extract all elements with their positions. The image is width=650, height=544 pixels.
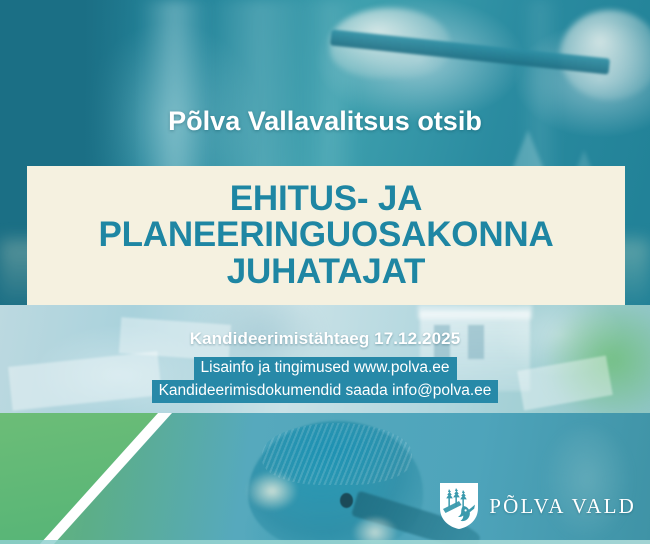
job-title-heading: EHITUS- JA PLANEERINGUOSAKONNA JUHATAJAT — [92, 181, 559, 289]
info-line-email: Kandideerimisdokumendid saada info@polva… — [152, 380, 499, 403]
contact-info-block: Lisainfo ja tingimused www.polva.ee Kand… — [0, 357, 650, 403]
job-advert-poster: Põlva Vallavalitsus otsib EHITUS- JA PLA… — [0, 0, 650, 544]
application-deadline-text: Kandideerimistähtaeg 17.12.2025 — [0, 329, 650, 349]
job-title-line-2: PLANEERINGUOSAKONNA — [98, 217, 553, 253]
pretitle-text: Põlva Vallavalitsus otsib — [0, 106, 650, 137]
info-line-website: Lisainfo ja tingimused www.polva.ee — [194, 357, 457, 380]
headline-panel: EHITUS- JA PLANEERINGUOSAKONNA JUHATAJAT — [27, 166, 625, 305]
kingfisher-cheek-patch — [246, 471, 298, 511]
kingfisher-eye — [340, 493, 353, 508]
job-title-line-3: JUHATAJAT — [98, 254, 553, 290]
logo-wordmark: PÕLVA VALD — [489, 494, 636, 519]
polva-vald-logo: PÕLVA VALD — [439, 482, 636, 530]
coat-of-arms-shield-icon — [439, 482, 479, 530]
job-title-line-1: EHITUS- JA — [98, 181, 553, 217]
bottom-edge-strip — [0, 540, 650, 544]
